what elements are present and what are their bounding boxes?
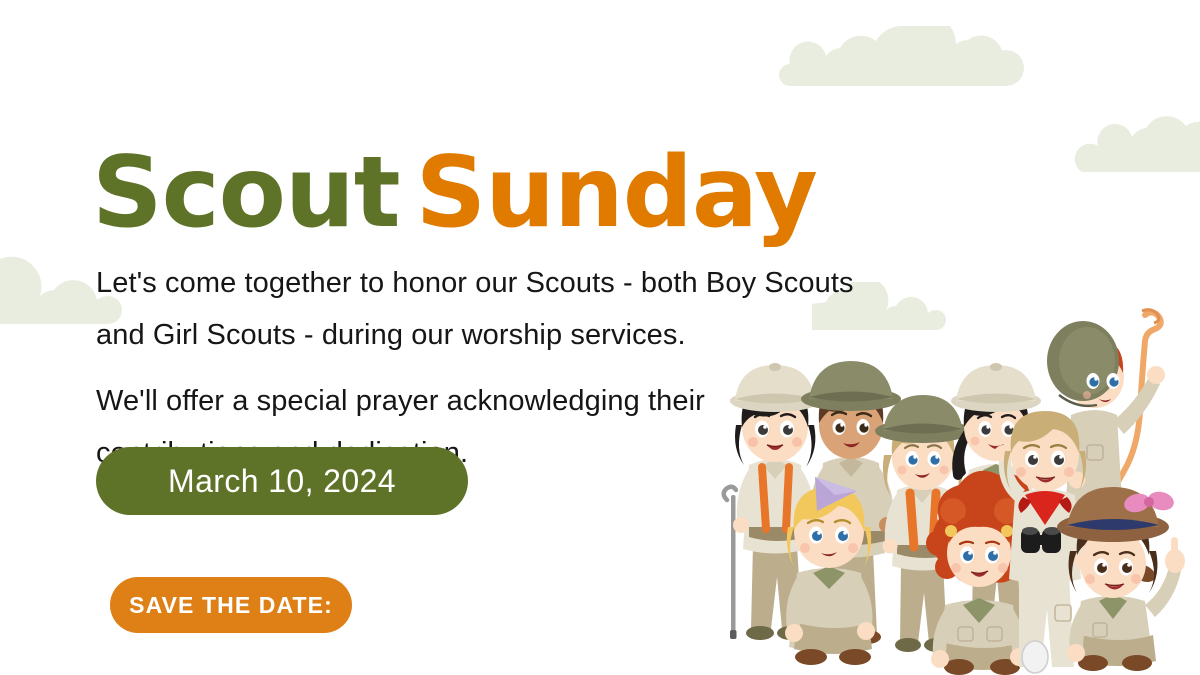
slide-canvas: ScoutSunday Let's come together to honor… (0, 0, 1200, 675)
walking-stick (724, 487, 737, 639)
event-date-label: March 10, 2024 (168, 463, 396, 500)
pointing-hand (1165, 537, 1185, 573)
save-the-date-label: SAVE THE DATE: (129, 592, 333, 619)
scout-children-illustration (715, 305, 1200, 675)
title-word-sunday: Sunday (416, 136, 817, 250)
save-the-date-button[interactable]: SAVE THE DATE: (110, 577, 352, 633)
page-title: ScoutSunday (92, 144, 817, 242)
event-date-badge[interactable]: March 10, 2024 (96, 447, 468, 515)
cloud-top-center-icon (762, 26, 1034, 86)
title-word-scout: Scout (92, 136, 400, 250)
cloud-top-right-icon (1068, 104, 1200, 172)
